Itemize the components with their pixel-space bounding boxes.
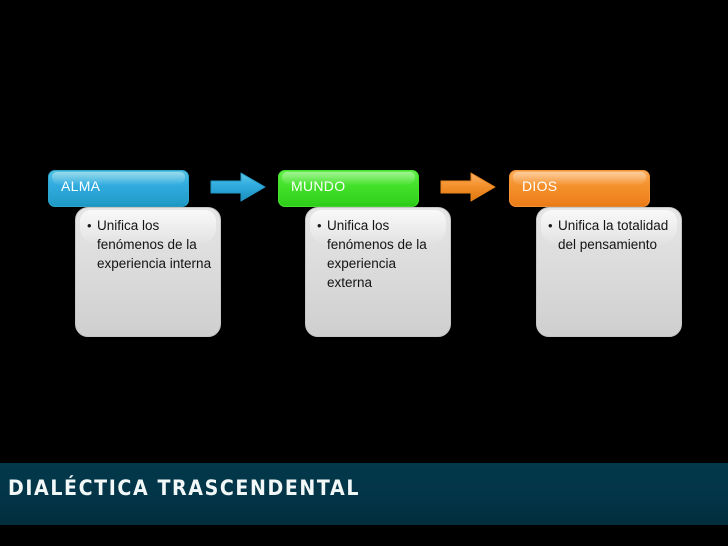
slide-canvas: ALMA • Unifica los fenómenos de la exper… <box>0 0 728 546</box>
content-card-alma[interactable]: • Unifica los fenómenos de la experienci… <box>75 207 221 337</box>
bullet-dot-icon: • <box>548 216 558 235</box>
bullet-item-mundo: • Unifica los fenómenos de la experienci… <box>317 216 444 292</box>
header-label-mundo: MUNDO <box>291 178 345 194</box>
arrow-alma-to-mundo-icon <box>210 172 266 202</box>
bullet-text-alma: Unifica los fenómenos de la experiencia … <box>97 216 214 273</box>
arrow-mundo-to-dios-icon <box>440 172 496 202</box>
bullet-dot-icon: • <box>317 216 327 235</box>
bullet-text-dios: Unifica la totalidad del pensamiento <box>558 216 675 254</box>
header-pill-dios[interactable]: DIOS <box>509 170 650 207</box>
slide-footer-title: DIALÉCTICA TRASCENDENTAL <box>8 476 360 501</box>
header-label-alma: ALMA <box>61 178 100 194</box>
bullet-text-mundo: Unifica los fenómenos de la experiencia … <box>327 216 444 292</box>
header-pill-mundo[interactable]: MUNDO <box>278 170 419 207</box>
header-pill-alma[interactable]: ALMA <box>48 170 189 207</box>
footer-band: DIALÉCTICA TRASCENDENTAL <box>0 463 728 525</box>
content-card-dios[interactable]: • Unifica la totalidad del pensamiento <box>536 207 682 337</box>
bullet-item-dios: • Unifica la totalidad del pensamiento <box>548 216 675 254</box>
bullet-dot-icon: • <box>87 216 97 235</box>
header-label-dios: DIOS <box>522 178 557 194</box>
content-card-mundo[interactable]: • Unifica los fenómenos de la experienci… <box>305 207 451 337</box>
bullet-item-alma: • Unifica los fenómenos de la experienci… <box>87 216 214 273</box>
